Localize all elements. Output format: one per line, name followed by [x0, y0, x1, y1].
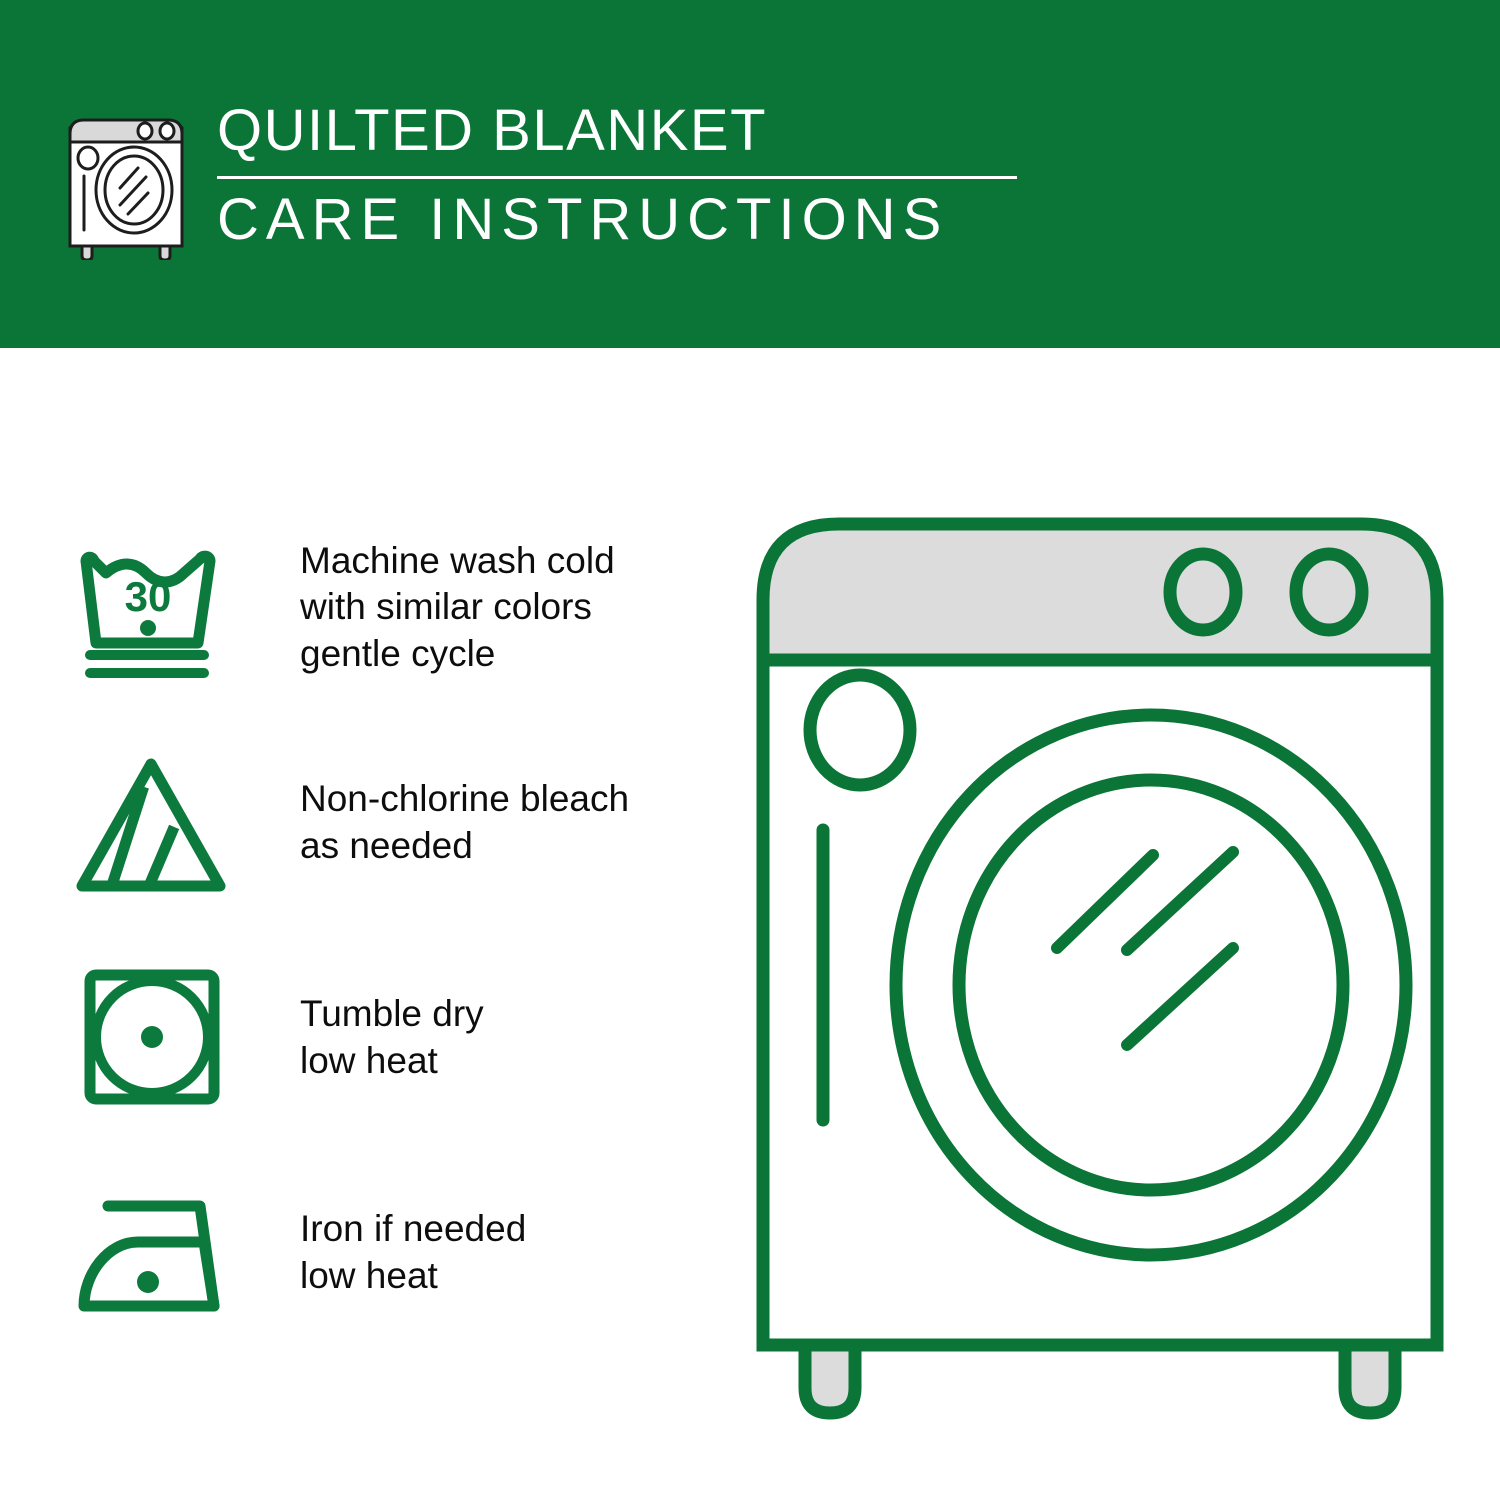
care-line: Iron if needed: [300, 1206, 712, 1253]
machine-leg: [1345, 1345, 1395, 1413]
care-line: with similar colors: [300, 584, 712, 631]
care-row-bleach: Non-chlorine bleach as needed: [72, 715, 712, 930]
iron-low-heat-icon: [72, 1170, 250, 1335]
care-line: low heat: [300, 1253, 712, 1300]
care-label-bleach: Non-chlorine bleach as needed: [250, 776, 712, 869]
page-title: QUILTED BLANKET: [217, 102, 1062, 160]
header-titles: QUILTED BLANKET CARE INSTRUCTIONS: [217, 100, 1062, 249]
wash-temperature-label: 30: [125, 573, 172, 620]
door-inner-ring: [959, 780, 1343, 1190]
machine-leg: [805, 1345, 855, 1413]
care-line: Machine wash cold: [300, 538, 712, 585]
care-row-machine-wash: 30 Machine wash cold with similar colors…: [72, 500, 712, 715]
care-line: low heat: [300, 1038, 712, 1085]
header-content: QUILTED BLANKET CARE INSTRUCTIONS: [62, 100, 1062, 280]
non-chlorine-bleach-icon: [72, 740, 250, 905]
care-line: Non-chlorine bleach: [300, 776, 712, 823]
machine-wash-30-gentle-icon: 30: [72, 525, 250, 690]
care-row-tumble-dry: Tumble dry low heat: [72, 930, 712, 1145]
care-label-iron: Iron if needed low heat: [250, 1206, 712, 1299]
tumble-dry-low-icon: [72, 955, 250, 1120]
washing-machine-icon: [62, 100, 197, 260]
title-divider: [217, 176, 1017, 179]
care-line: as needed: [300, 823, 712, 870]
knob-icon: [1296, 554, 1362, 630]
knob-icon: [1170, 554, 1236, 630]
header-band: QUILTED BLANKET CARE INSTRUCTIONS: [0, 0, 1500, 348]
care-line: Tumble dry: [300, 991, 712, 1038]
detergent-dial-icon: [810, 675, 910, 785]
page-subtitle: CARE INSTRUCTIONS: [217, 191, 1062, 249]
care-row-iron: Iron if needed low heat: [72, 1145, 712, 1360]
care-instruction-list: 30 Machine wash cold with similar colors…: [72, 500, 712, 1360]
care-label-machine-wash: Machine wash cold with similar colors ge…: [250, 538, 712, 678]
washing-machine-illustration: [745, 500, 1455, 1430]
care-line: gentle cycle: [300, 631, 712, 678]
care-label-tumble-dry: Tumble dry low heat: [250, 991, 712, 1084]
care-instructions-page: QUILTED BLANKET CARE INSTRUCTIONS 30: [0, 0, 1500, 1500]
